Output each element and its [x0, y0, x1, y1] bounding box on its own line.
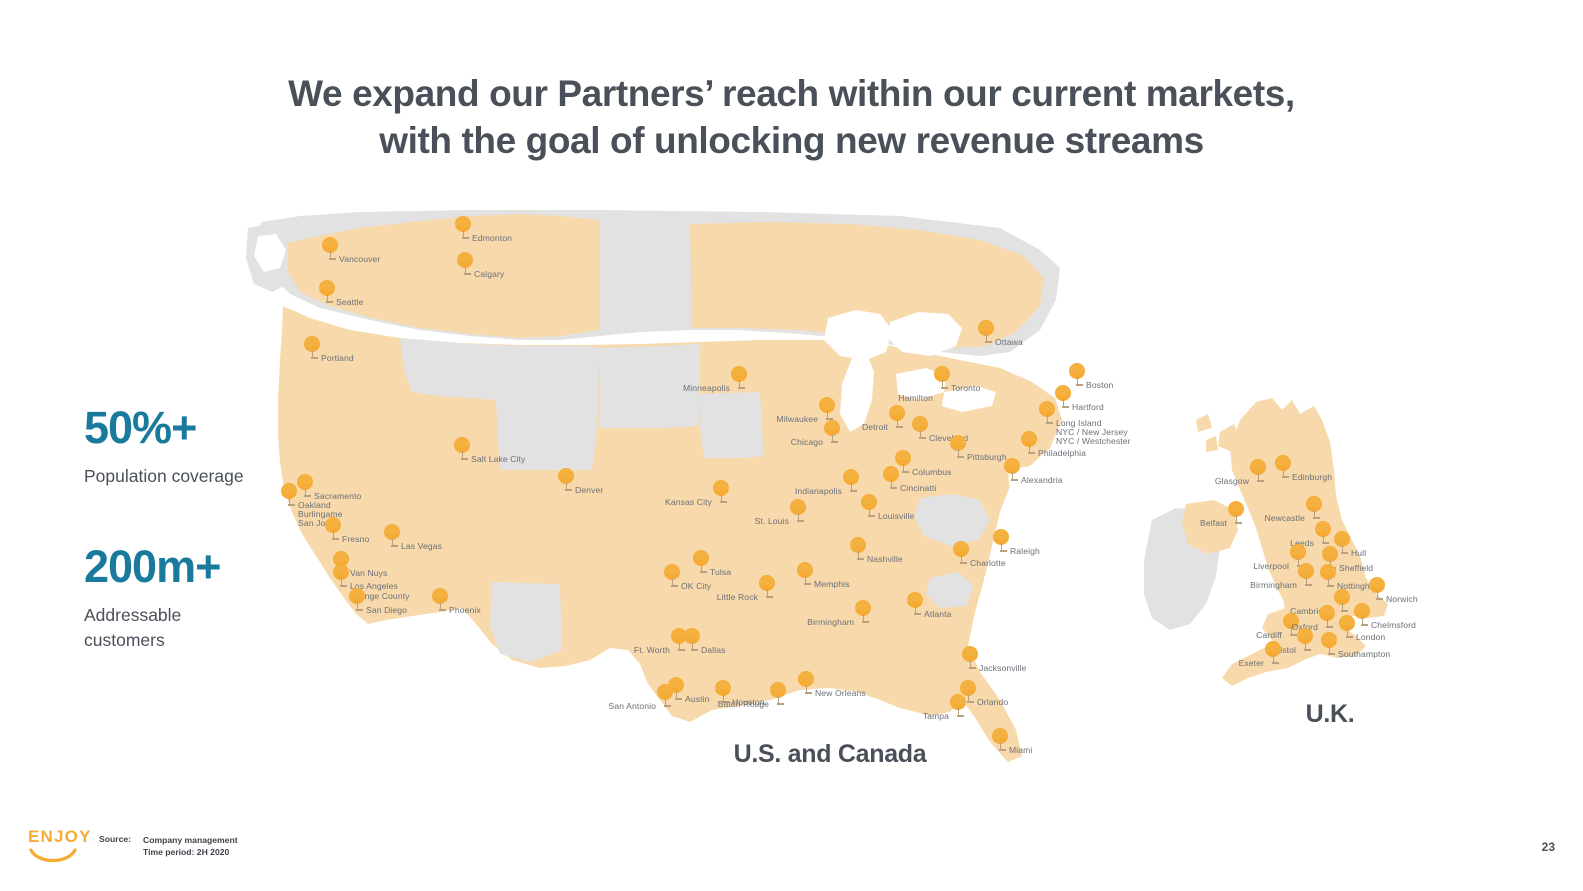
- stat-label-population: Population coverage: [84, 464, 264, 489]
- city-label-san-diego: San Diego: [366, 605, 407, 615]
- city-label-edinburgh: Edinburgh: [1292, 472, 1332, 482]
- pin-base: [311, 357, 318, 358]
- pin-base: [462, 237, 469, 238]
- stat-value-population: 50%+: [84, 404, 334, 451]
- city-label-hartford: Hartford: [1072, 402, 1104, 412]
- city-label-ok-city: OK City: [681, 581, 711, 591]
- pin-highlight: [1321, 633, 1337, 642]
- pin-highlight: [1021, 432, 1037, 441]
- pin-base: [868, 515, 875, 516]
- city-label-london: London: [1356, 632, 1385, 642]
- pin-highlight: [798, 672, 814, 681]
- pin-base: [862, 621, 869, 622]
- pin-base: [1341, 610, 1348, 611]
- pin-highlight: [322, 238, 338, 247]
- city-label-alexandria: Alexandria: [1021, 475, 1063, 485]
- pin-base: [1305, 584, 1312, 585]
- pin-base: [1328, 653, 1335, 654]
- pin-base: [1327, 585, 1334, 586]
- pin-highlight: [819, 398, 835, 407]
- pin-highlight: [850, 538, 866, 547]
- city-label-cardiff: Cardiff: [1256, 630, 1282, 640]
- pin-highlight: [432, 589, 448, 598]
- pin-highlight: [790, 500, 806, 509]
- pin-highlight: [1306, 497, 1322, 506]
- pin-highlight: [304, 337, 320, 346]
- pin-highlight: [1069, 364, 1085, 373]
- region-caption-north-america: U.S. and Canada: [700, 738, 960, 771]
- pin-base: [957, 715, 964, 716]
- pin-base: [1304, 649, 1311, 650]
- pin-highlight: [715, 681, 731, 690]
- city-label-southampton: Southampton: [1338, 649, 1390, 659]
- pin-base: [797, 520, 804, 521]
- city-label-st-louis: St. Louis: [755, 516, 789, 526]
- city-label-baton-rouge: Baton Rouge: [718, 699, 769, 709]
- pin-base: [1076, 384, 1083, 385]
- pin-highlight: [713, 481, 729, 490]
- city-label-las-vegas: Las Vegas: [401, 541, 442, 551]
- pin-base: [738, 387, 745, 388]
- city-label-denver: Denver: [575, 485, 603, 495]
- pin-highlight: [978, 321, 994, 330]
- city-label-hamilton: Hamilton: [898, 393, 933, 403]
- pin-highlight: [1315, 522, 1331, 531]
- pin-base: [671, 585, 678, 586]
- stats-panel: 50%+ Population coverage 200m+ Addressab…: [84, 404, 334, 653]
- pin-highlight: [349, 589, 365, 598]
- city-label-memphis: Memphis: [814, 579, 850, 589]
- pin-highlight: [333, 565, 349, 574]
- stat-label-customers: Addressable customers: [84, 603, 264, 653]
- pin-base: [1028, 452, 1035, 453]
- pin-base: [1011, 479, 1018, 480]
- pin-base: [831, 441, 838, 442]
- pin-base: [356, 609, 363, 610]
- city-label-louisville: Louisville: [878, 511, 914, 521]
- city-label-portland: Portland: [321, 353, 354, 363]
- city-label-birmingham: Birmingham: [1250, 580, 1297, 590]
- city-label-tulsa: Tulsa: [710, 567, 731, 577]
- pin-base: [1046, 422, 1053, 423]
- pin-base: [1282, 476, 1289, 477]
- pin-highlight: [770, 683, 786, 692]
- pin-base: [850, 490, 857, 491]
- enjoy-logo: ENJOY: [28, 828, 98, 868]
- pin-highlight: [907, 593, 923, 602]
- city-label-detroit: Detroit: [862, 422, 888, 432]
- pin-base: [391, 545, 398, 546]
- pin-base: [1290, 634, 1297, 635]
- city-label-glasgow: Glasgow: [1215, 476, 1249, 486]
- pin-highlight: [843, 470, 859, 479]
- city-label-phoenix: Phoenix: [449, 605, 481, 615]
- pin-base: [1361, 624, 1368, 625]
- pin-base: [919, 437, 926, 438]
- pin-highlight: [962, 647, 978, 656]
- city-label-jacksonville: Jacksonville: [979, 663, 1027, 673]
- city-label-kansas-city: Kansas City: [665, 497, 712, 507]
- pin-base: [999, 749, 1006, 750]
- source-value-1: Company management: [143, 834, 238, 846]
- city-label-vancouver: Vancouver: [339, 254, 380, 264]
- pin-highlight: [1250, 460, 1266, 469]
- pin-highlight: [1004, 459, 1020, 468]
- pin-base: [664, 705, 671, 706]
- city-label-miami: Miami: [1009, 745, 1032, 755]
- city-label-indianapolis: Indianapolis: [795, 486, 842, 496]
- city-label-raleigh: Raleigh: [1010, 546, 1040, 556]
- region-caption-uk: U.K.: [1240, 698, 1420, 731]
- pin-base: [896, 426, 903, 427]
- city-label-exeter: Exeter: [1239, 658, 1264, 668]
- pin-highlight: [664, 565, 680, 574]
- pin-base: [1313, 517, 1320, 518]
- pin-base: [678, 649, 685, 650]
- pin-base: [1326, 626, 1333, 627]
- pin-base: [1235, 522, 1242, 523]
- pin-highlight: [1228, 502, 1244, 511]
- pin-highlight: [953, 542, 969, 551]
- city-label-chicago: Chicago: [791, 437, 823, 447]
- pin-highlight: [824, 421, 840, 430]
- city-label-new-orleans: New Orleans: [815, 688, 866, 698]
- stat-value-customers: 200m+: [84, 543, 334, 590]
- pin-base: [1376, 598, 1383, 599]
- slide-root: We expand our Partners’ reach within our…: [0, 0, 1583, 891]
- pin-highlight: [693, 551, 709, 560]
- pin-base: [1272, 662, 1279, 663]
- pin-highlight: [895, 451, 911, 460]
- pin-highlight: [960, 681, 976, 690]
- city-label-newcastle: Newcastle: [1264, 513, 1305, 523]
- pin-base: [941, 387, 948, 388]
- pin-highlight: [1334, 532, 1350, 541]
- pin-highlight: [1339, 616, 1355, 625]
- pin-highlight: [950, 436, 966, 445]
- city-label-charlotte: Charlotte: [970, 558, 1006, 568]
- pin-base: [329, 258, 336, 259]
- city-label-nashville: Nashville: [867, 554, 903, 564]
- pin-base: [1341, 552, 1348, 553]
- pin-highlight: [1354, 604, 1370, 613]
- city-label-sheffield: Sheffield: [1339, 563, 1373, 573]
- pin-highlight: [912, 417, 928, 426]
- pin-base: [902, 471, 909, 472]
- pin-highlight: [992, 729, 1008, 738]
- pin-highlight: [759, 576, 775, 585]
- pin-highlight: [797, 563, 813, 572]
- stat-addressable-customers: 200m+ Addressable customers: [84, 543, 334, 653]
- city-label-hull: Hull: [1351, 548, 1366, 558]
- pin-base: [960, 562, 967, 563]
- pin-highlight: [934, 367, 950, 376]
- city-label-boston: Boston: [1086, 380, 1113, 390]
- pin-highlight: [1334, 590, 1350, 599]
- pin-highlight: [1369, 578, 1385, 587]
- pin-highlight: [1055, 386, 1071, 395]
- city-label-toronto: Toronto: [951, 383, 980, 393]
- pin-base: [461, 458, 468, 459]
- pin-base: [675, 698, 682, 699]
- city-label-tampa: Tampa: [923, 711, 949, 721]
- city-label-austin: Austin: [685, 694, 710, 704]
- city-label-philadelphia: Philadelphia: [1038, 448, 1086, 458]
- pin-highlight: [558, 469, 574, 478]
- pin-highlight: [855, 601, 871, 610]
- pin-highlight: [457, 253, 473, 262]
- pin-base: [1257, 480, 1264, 481]
- city-label-van-nuys: Van Nuys: [350, 568, 387, 578]
- pin-highlight: [1322, 547, 1338, 556]
- city-label-seattle: Seattle: [336, 297, 363, 307]
- city-label-little-rock: Little Rock: [717, 592, 758, 602]
- pin-highlight: [950, 695, 966, 704]
- pin-highlight: [384, 525, 400, 534]
- city-label-ottawa: Ottawa: [995, 337, 1023, 347]
- pin-base: [1062, 406, 1069, 407]
- city-label-milwaukee: Milwaukee: [777, 414, 819, 424]
- pin-base: [1346, 636, 1353, 637]
- city-label-nyc-westchester: NYC / Westchester: [1056, 436, 1131, 446]
- pin-base: [464, 273, 471, 274]
- city-label-san-antonio: San Antonio: [609, 701, 656, 711]
- pin-highlight: [455, 217, 471, 226]
- pin-base: [1322, 542, 1329, 543]
- enjoy-logo-wordmark: ENJOY: [28, 828, 98, 845]
- pin-base: [857, 558, 864, 559]
- pin-base: [985, 341, 992, 342]
- city-label-cincinatti: Cincinatti: [900, 483, 936, 493]
- stat-population-coverage: 50%+ Population coverage: [84, 404, 334, 489]
- city-label-fresno: Fresno: [342, 534, 369, 544]
- pin-base: [1000, 550, 1007, 551]
- city-label-liverpool: Liverpool: [1253, 561, 1289, 571]
- pin-base: [969, 667, 976, 668]
- north-america-landmass: [246, 210, 1062, 820]
- city-label-ft-worth: Ft. Worth: [634, 645, 670, 655]
- pin-highlight: [684, 629, 700, 638]
- pin-base: [439, 609, 446, 610]
- city-label-calgary: Calgary: [474, 269, 504, 279]
- pin-highlight: [1039, 402, 1055, 411]
- city-label-pittsburgh: Pittsburgh: [967, 452, 1007, 462]
- pin-base: [691, 649, 698, 650]
- pin-base: [565, 489, 572, 490]
- pin-highlight: [1297, 629, 1313, 638]
- pin-base: [914, 613, 921, 614]
- pin-base: [805, 692, 812, 693]
- pin-highlight: [731, 367, 747, 376]
- pin-highlight: [1275, 456, 1291, 465]
- source-note: Source: Company management Time period: …: [99, 834, 238, 859]
- city-label-columbus: Columbus: [912, 467, 952, 477]
- page-number: 23: [1542, 840, 1555, 854]
- pin-highlight: [1298, 564, 1314, 573]
- city-label-salt-lake-city: Salt Lake City: [471, 454, 525, 464]
- pin-highlight: [333, 552, 349, 561]
- city-label-chelmsford: Chelmsford: [1371, 620, 1416, 630]
- city-label-minneapolis: Minneapolis: [683, 383, 730, 393]
- pin-highlight: [657, 685, 673, 694]
- pin-base: [700, 571, 707, 572]
- pin-highlight: [1320, 565, 1336, 574]
- city-label-atlanta: Atlanta: [924, 609, 951, 619]
- pin-base: [777, 703, 784, 704]
- city-label-belfast: Belfast: [1200, 518, 1227, 528]
- pin-base: [804, 583, 811, 584]
- pin-base: [890, 487, 897, 488]
- city-label-norwich: Norwich: [1386, 594, 1418, 604]
- smile-icon: [28, 847, 78, 865]
- pin-highlight: [1290, 545, 1306, 554]
- pin-base: [967, 701, 974, 702]
- pin-highlight: [1319, 606, 1335, 615]
- pin-highlight: [319, 281, 335, 290]
- pin-base: [766, 596, 773, 597]
- city-label-birmingham: Birmingham: [807, 617, 854, 627]
- city-label-edmonton: Edmonton: [472, 233, 512, 243]
- city-label-dallas: Dallas: [701, 645, 725, 655]
- pin-highlight: [883, 467, 899, 476]
- pin-highlight: [861, 495, 877, 504]
- city-label-orlando: Orlando: [977, 697, 1008, 707]
- pin-highlight: [993, 530, 1009, 539]
- pin-highlight: [1265, 642, 1281, 651]
- pin-base: [720, 501, 727, 502]
- pin-highlight: [454, 438, 470, 447]
- pin-base: [957, 456, 964, 457]
- pin-base: [340, 585, 347, 586]
- pin-highlight: [889, 406, 905, 415]
- source-label: Source:: [99, 834, 131, 859]
- source-value-2: Time period: 2H 2020: [143, 846, 238, 858]
- pin-base: [326, 301, 333, 302]
